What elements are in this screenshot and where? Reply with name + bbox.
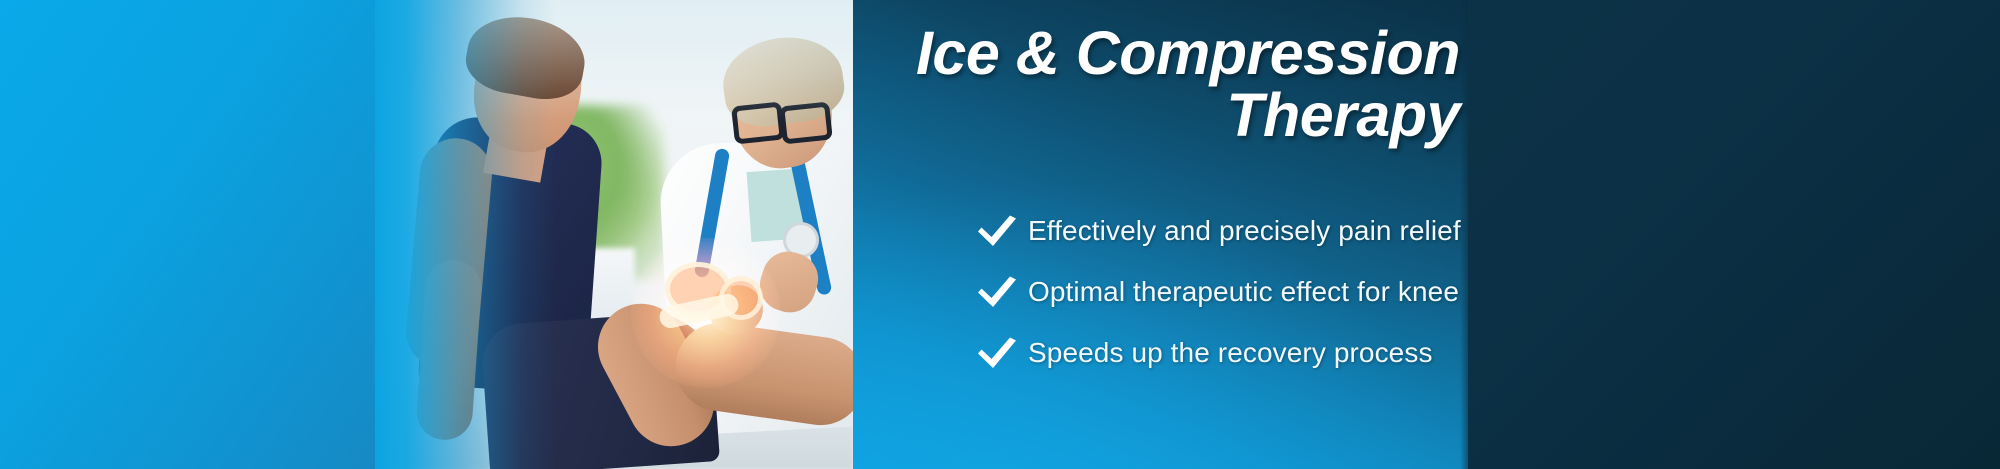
list-item: Speeds up the recovery process: [976, 322, 1476, 383]
headline: Ice & Compression Therapy: [880, 22, 1460, 146]
hero-photo: [375, 0, 853, 469]
list-item: Optimal therapeutic effect for knee: [976, 261, 1476, 322]
photo-left-fade: [375, 0, 555, 469]
copy-block: Ice & Compression Therapy Effectively an…: [880, 0, 1468, 469]
check-icon: [976, 336, 1018, 370]
list-item: Effectively and precisely pain relief: [976, 200, 1476, 261]
promo-banner: Ice & Compression Therapy Effectively an…: [0, 0, 2000, 469]
list-item-label: Effectively and precisely pain relief: [1028, 215, 1461, 247]
benefits-list: Effectively and precisely pain relief Op…: [976, 200, 1476, 383]
list-item-label: Optimal therapeutic effect for knee: [1028, 276, 1459, 308]
list-item-label: Speeds up the recovery process: [1028, 337, 1433, 369]
check-icon: [976, 214, 1018, 248]
background-right-navy: [1468, 0, 2000, 469]
check-icon: [976, 275, 1018, 309]
